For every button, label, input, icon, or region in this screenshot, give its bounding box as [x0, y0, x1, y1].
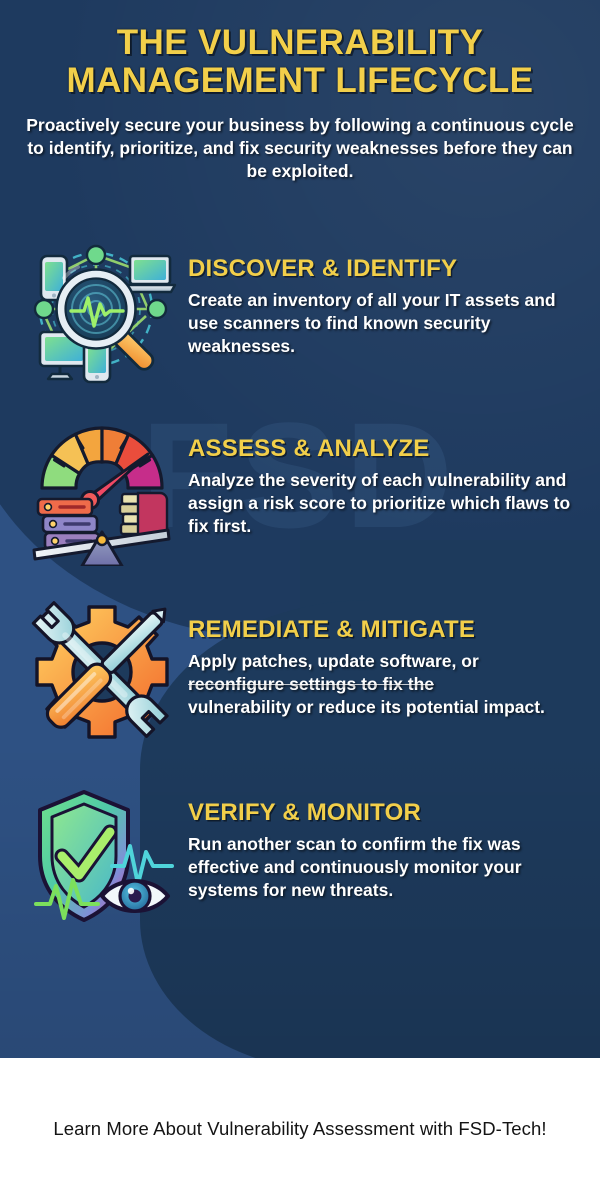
page-subtitle: Proactively secure your business by foll…: [22, 114, 578, 184]
step-heading: REMEDIATE & MITIGATE: [188, 617, 582, 643]
lifecycle-step-verify: VERIFY & MONITOR Run another scan to con…: [0, 780, 600, 930]
shield-check-eye-pulse-icon: [26, 780, 178, 930]
page-title: THE VULNERABILITY MANAGEMENT LIFECYCLE: [22, 24, 578, 100]
lifecycle-steps-list: DISCOVER & IDENTIFY Create an inventory …: [0, 236, 600, 930]
header: THE VULNERABILITY MANAGEMENT LIFECYCLE P…: [0, 24, 600, 183]
step-description: Apply patches, update software, or recon…: [188, 650, 582, 718]
step-description: Run another scan to confirm the fix was …: [188, 833, 582, 901]
risk-gauge-balance-scale-icon: [26, 416, 178, 566]
step-description-line-4: impact.: [484, 697, 545, 717]
lifecycle-step-remediate: REMEDIATE & MITIGATE Apply patches, upda…: [0, 597, 600, 747]
step-heading: DISCOVER & IDENTIFY: [188, 256, 582, 282]
page-title-line-1: THE VULNERABILITY: [117, 23, 484, 62]
step-body: REMEDIATE & MITIGATE Apply patches, upda…: [178, 597, 582, 719]
step-heading: VERIFY & MONITOR: [188, 800, 582, 826]
footer: Learn More About Vulnerability Assessmen…: [0, 1058, 600, 1200]
gear-wrench-screwdriver-icon: [26, 597, 178, 747]
step-body: DISCOVER & IDENTIFY Create an inventory …: [178, 236, 582, 358]
step-description: Analyze the severity of each vulnerabili…: [188, 469, 582, 537]
lifecycle-step-assess: ASSESS & ANALYZE Analyze the severity of…: [0, 416, 600, 566]
step-description-line-2: reconfigure settings to fix the: [188, 673, 582, 696]
step-description-line-3: vulnerability or reduce its potential: [188, 697, 479, 717]
lifecycle-step-discover: DISCOVER & IDENTIFY Create an inventory …: [0, 236, 600, 386]
infographic-root: FSD THE VULNERABILITY MANAGEMENT LIFECYC…: [0, 0, 600, 1200]
network-magnifier-scan-icon: [26, 236, 178, 386]
step-heading: ASSESS & ANALYZE: [188, 436, 582, 462]
page-title-line-2: MANAGEMENT LIFECYCLE: [67, 61, 534, 100]
step-description: Create an inventory of all your IT asset…: [188, 289, 582, 357]
footer-cta-text[interactable]: Learn More About Vulnerability Assessmen…: [53, 1118, 546, 1140]
step-description-line-1: Apply patches, update software, or: [188, 651, 479, 671]
step-body: ASSESS & ANALYZE Analyze the severity of…: [178, 416, 582, 538]
step-body: VERIFY & MONITOR Run another scan to con…: [178, 780, 582, 902]
